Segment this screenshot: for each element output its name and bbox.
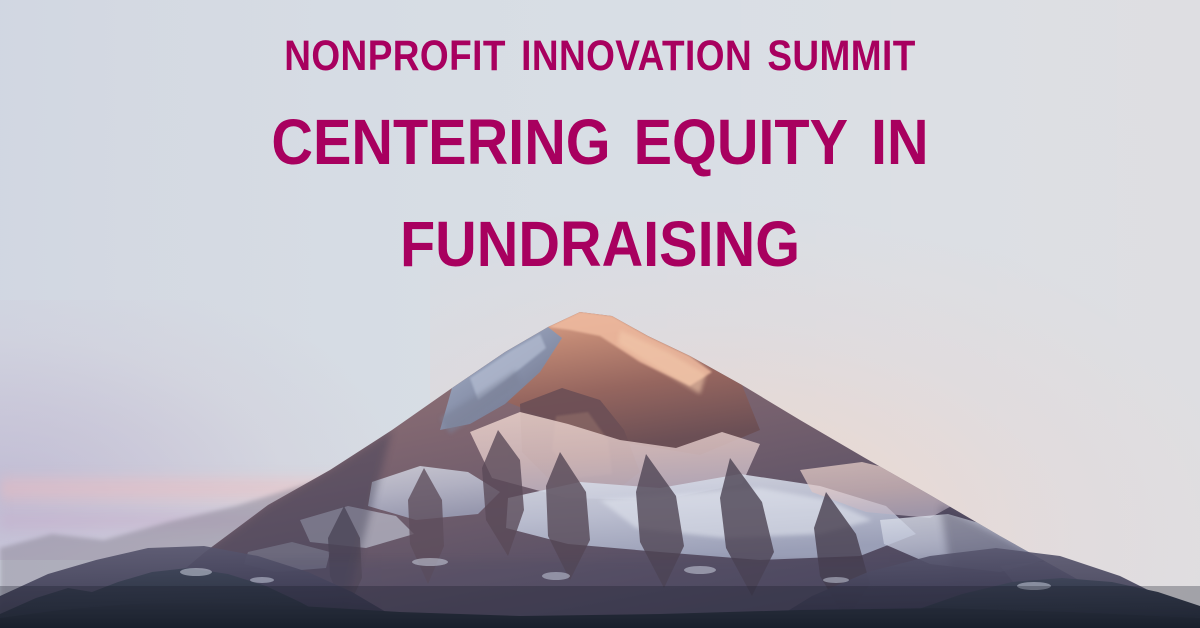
headline-line-1: Centering Equity in: [60, 87, 1140, 179]
event-kicker: Nonprofit Innovation Summit: [84, 0, 1116, 81]
headline-line-2: Fundraising: [60, 189, 1140, 281]
bottom-vignette: [0, 586, 1200, 628]
title-block: Nonprofit Innovation Summit Centering Eq…: [0, 0, 1200, 281]
event-banner: Nonprofit Innovation Summit Centering Eq…: [0, 0, 1200, 628]
